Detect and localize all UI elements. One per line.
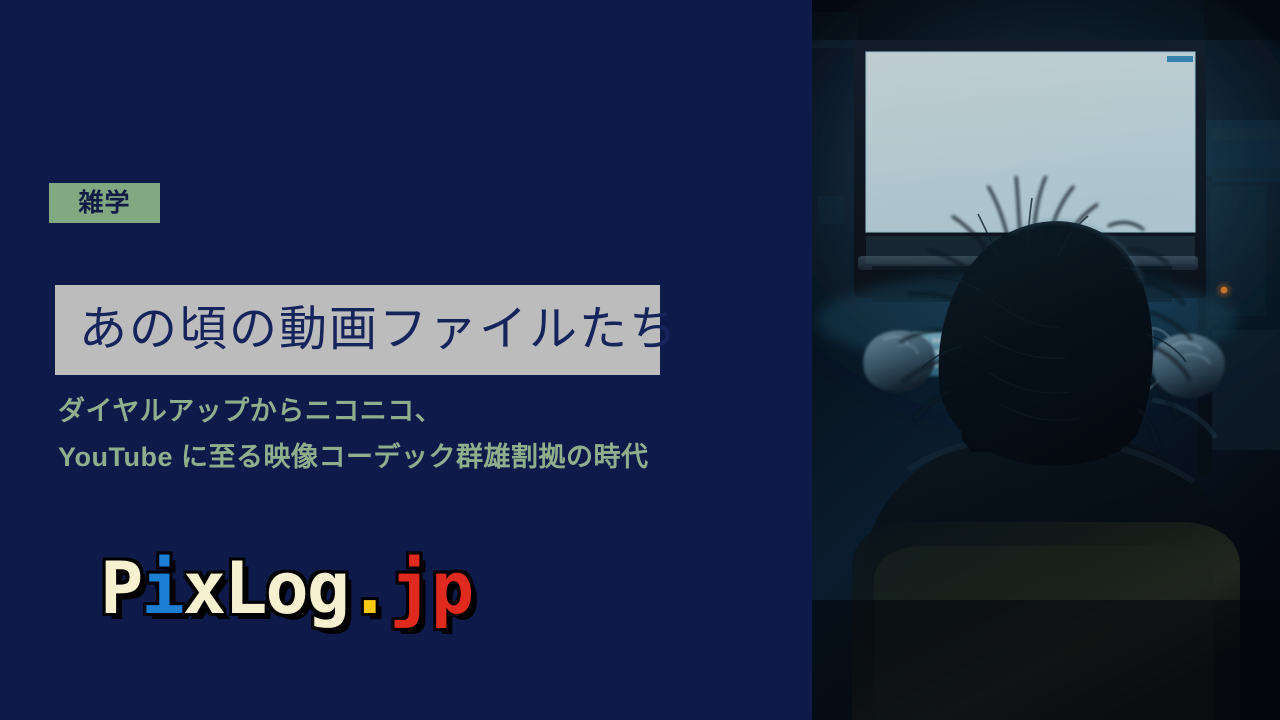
subtitle-line-1: ダイヤルアップからニコニコ、 — [58, 388, 778, 434]
logo-letters-log: Log — [224, 552, 348, 624]
eyecatch-canvas: 雑学 あの頃の動画ファイルたち ダイヤルアップからニコニコ、 YouTube に… — [0, 0, 1280, 720]
logo-letter-x: x — [183, 552, 224, 624]
hero-photo-illustration — [812, 0, 1280, 720]
logo-letters-jp: jp — [389, 552, 472, 624]
logo-letter-p: P — [100, 552, 141, 624]
subtitle-line-2: YouTube に至る映像コーデック群雄割拠の時代 — [58, 434, 778, 480]
category-badge-label: 雑学 — [78, 191, 130, 216]
logo-letter-i: i — [141, 552, 182, 624]
site-logo: P i x Log . jp — [100, 552, 472, 624]
subtitle-block: ダイヤルアップからニコニコ、 YouTube に至る映像コーデック群雄割拠の時代 — [58, 388, 778, 480]
category-badge: 雑学 — [49, 183, 160, 223]
hero-photo — [812, 0, 1280, 720]
title-band: あの頃の動画ファイルたち — [55, 285, 660, 375]
page-title: あの頃の動画ファイルたち — [55, 304, 679, 357]
logo-dot: . — [348, 552, 389, 624]
left-text-panel: 雑学 あの頃の動画ファイルたち ダイヤルアップからニコニコ、 YouTube に… — [0, 0, 812, 720]
